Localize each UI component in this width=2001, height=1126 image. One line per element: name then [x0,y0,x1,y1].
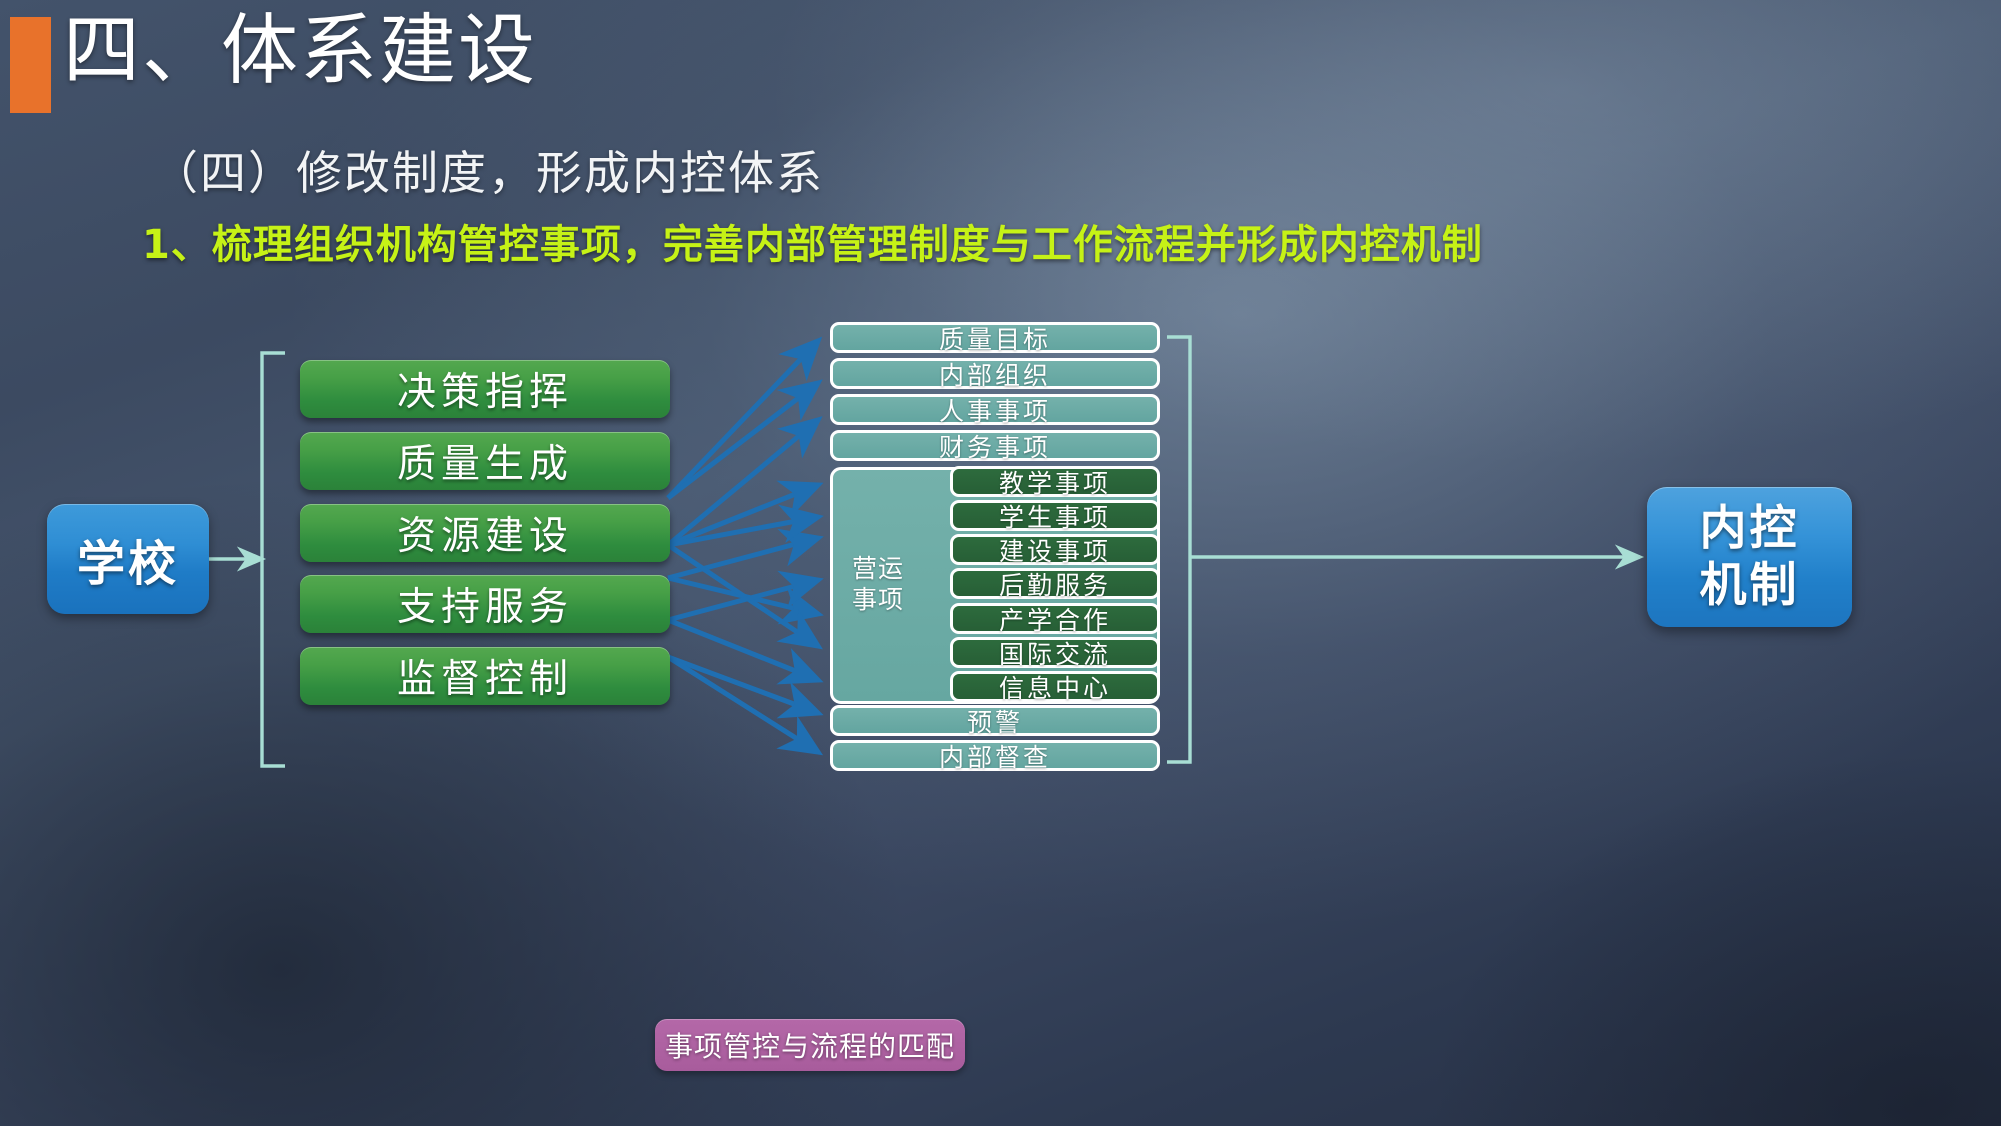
item-construction-affairs[interactable]: 建设事项 [950,534,1160,565]
node-function-1-label: 决策指挥 [397,361,573,417]
item-quality-goal[interactable]: 质量目标 [830,322,1160,353]
item-internal-org-label: 内部组织 [939,356,1051,392]
item-operations-label-line2: 事项 [836,585,920,616]
item-teaching-affairs[interactable]: 教学事项 [950,466,1160,497]
node-function-5-label: 监督控制 [397,648,573,704]
item-early-warning[interactable]: 预警 [830,705,1160,736]
item-operations-label-line1: 营运 [836,554,920,585]
title-accent-bar [10,17,51,113]
item-teaching-affairs-label: 教学事项 [999,464,1111,500]
item-information-center-label: 信息中心 [999,669,1111,705]
node-function-1[interactable]: 决策指挥 [300,360,670,418]
item-finance-affairs[interactable]: 财务事项 [830,430,1160,461]
item-industry-academia[interactable]: 产学合作 [950,603,1160,634]
node-function-5[interactable]: 监督控制 [300,647,670,705]
node-result-label-line2: 机制 [1700,557,1800,614]
item-logistics-service-label: 后勤服务 [999,566,1111,602]
page-title: 四、体系建设 [63,13,537,90]
item-construction-affairs-label: 建设事项 [999,532,1111,568]
item-hr-affairs-label: 人事事项 [939,392,1051,428]
section-subtitle: （四）修改制度，形成内控体系 [152,137,824,203]
item-student-affairs-label: 学生事项 [999,498,1111,534]
item-quality-goal-label: 质量目标 [939,320,1051,356]
node-function-4[interactable]: 支持服务 [300,575,670,633]
item-hr-affairs[interactable]: 人事事项 [830,394,1160,425]
node-function-2[interactable]: 质量生成 [300,432,670,490]
node-result-label-line1: 内控 [1700,500,1800,557]
item-industry-academia-label: 产学合作 [999,601,1111,637]
item-internal-org[interactable]: 内部组织 [830,358,1160,389]
item-logistics-service[interactable]: 后勤服务 [950,568,1160,599]
item-operations-label: 营运 事项 [836,554,920,615]
item-finance-affairs-label: 财务事项 [939,428,1051,464]
item-internal-supervision-label: 内部督查 [939,738,1051,774]
item-information-center[interactable]: 信息中心 [950,671,1160,702]
node-school[interactable]: 学校 [47,504,209,614]
item-international-exchange-label: 国际交流 [999,635,1111,671]
diagram-caption-label: 事项管控与流程的匹配 [665,1025,955,1065]
item-early-warning-label: 预警 [967,703,1023,739]
item-international-exchange[interactable]: 国际交流 [950,637,1160,668]
item-student-affairs[interactable]: 学生事项 [950,500,1160,531]
node-school-label: 学校 [77,524,179,594]
node-internal-control-mechanism[interactable]: 内控 机制 [1647,487,1852,627]
right-bracket [1167,337,1190,762]
node-function-2-label: 质量生成 [397,433,573,489]
node-function-4-label: 支持服务 [397,576,573,632]
item-internal-supervision[interactable]: 内部督查 [830,740,1160,771]
diagram-caption[interactable]: 事项管控与流程的匹配 [655,1019,965,1071]
node-function-3-label: 资源建设 [397,505,573,561]
mapping-arrows [668,341,818,752]
slide-root: 四、体系建设 （四）修改制度，形成内控体系 1、梳理组织机构管控事项，完善内部管… [0,0,2001,1126]
node-function-3[interactable]: 资源建设 [300,504,670,562]
section-highlight-text: 1、梳理组织机构管控事项，完善内部管理制度与工作流程并形成内控机制 [142,212,1483,270]
left-bracket [262,353,285,766]
